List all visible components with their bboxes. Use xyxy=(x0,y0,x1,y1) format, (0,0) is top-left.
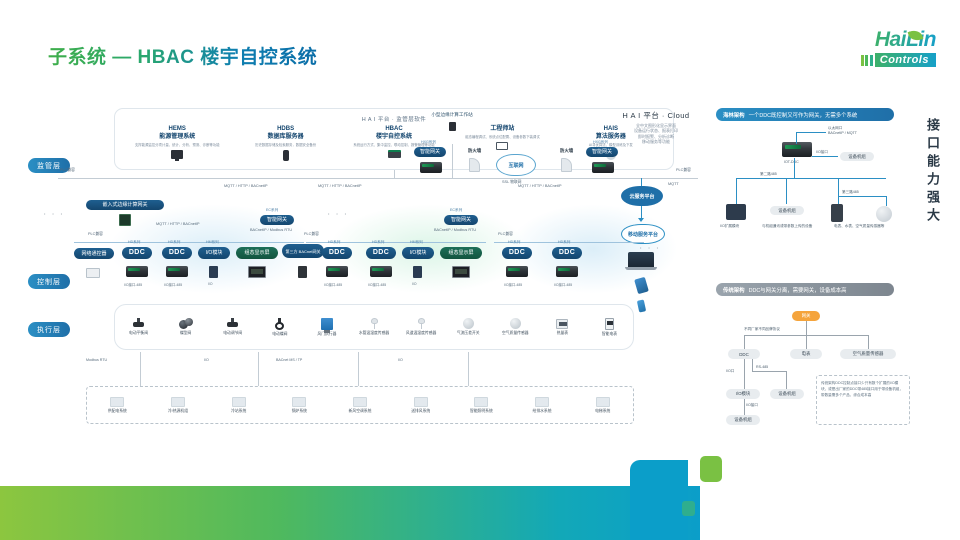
legacy-root-gateway[interactable]: 网关 xyxy=(792,311,820,321)
ec-series-2: EC系列 xyxy=(450,208,462,213)
butterfly-valve-icon xyxy=(274,318,285,330)
legacy-ddc-h xyxy=(752,371,786,372)
legacy-branch-2 xyxy=(868,335,869,349)
ddc4-sub: I/O接口-485 xyxy=(368,282,386,287)
firewall-label-2: 防火墙 xyxy=(560,148,573,154)
heat-meter-icon xyxy=(556,319,568,329)
iot-ddc-label: IOT-DDC xyxy=(784,160,799,164)
system-item-0[interactable]: 供配电系统 xyxy=(87,397,148,414)
hdbs-desc: 历史数据存储及检索服务，数据安全备份 xyxy=(231,143,339,147)
exec-item-10[interactable]: 智能电表 xyxy=(586,318,633,337)
system-item-8[interactable]: 电梯系统 xyxy=(572,397,633,414)
bus2-label: 第三路485 xyxy=(842,190,859,195)
modern-bus-drop xyxy=(794,158,795,178)
architecture-diagram: 监管层 控制层 执行层 H A I 平台 · 监管层软件 HEMS 能源管理系统… xyxy=(28,96,708,446)
system-label-6: 智能照明系统 xyxy=(451,409,512,414)
proto-mqtt-cloud: MQTT xyxy=(668,182,679,186)
legacy-meter[interactable]: 电表 xyxy=(790,349,822,359)
modern-arch-text: 一个DDC既控制又可作为网关，无需多个系统 xyxy=(749,111,858,119)
backbone-bus xyxy=(58,178,698,179)
system-label-7: 给排水系统 xyxy=(512,409,573,414)
net-controller-icon xyxy=(86,268,100,278)
internet-cloud-icon: 互联网 xyxy=(496,154,536,176)
exec-item-8[interactable]: 空气质量传感器 xyxy=(492,318,539,336)
ctrl-ddc-3[interactable]: DDC xyxy=(322,247,352,259)
logo-subtitle: Controls xyxy=(875,53,936,67)
ellipsis-mid: • • • xyxy=(328,212,349,216)
ddc4-series: HD系列 xyxy=(372,240,384,245)
modern-branch-3b xyxy=(838,196,886,197)
ddc3-series: HD系列 xyxy=(328,240,340,245)
pipe-sensor-icon xyxy=(369,318,380,329)
proto-plc-1: PLC兼容 xyxy=(88,232,103,237)
exec-item-6[interactable]: 风道温湿度传感器 xyxy=(398,318,445,336)
legacy-note-text: 传统架构DDC控制点接口少只有数个扩展的I/O模块，或是出厂家的DDC带485接… xyxy=(821,381,903,397)
control-valve-icon xyxy=(226,318,239,329)
lbl-io-2: I/O xyxy=(398,358,403,362)
exec-item-3[interactable]: 电动蝶阀 xyxy=(256,318,303,337)
hems-code: HEMS xyxy=(123,125,231,133)
ddc-device-1 xyxy=(126,266,148,277)
pressure-switch-icon xyxy=(463,318,474,329)
control-bus-1 xyxy=(74,242,304,243)
embedded-edge-gateway[interactable]: 嵌入式边缘计算网关 xyxy=(86,200,164,210)
cloud-platform-icon: 云服务平台 xyxy=(621,186,663,206)
supervision-item-hdbs[interactable]: HDBS 数据库服务器 历史数据存储及检索服务，数据安全备份 xyxy=(231,125,339,161)
legacy-ddc-drop xyxy=(744,359,745,389)
supervision-item-hems[interactable]: HEMS 能源管理系统 支撑能源监控分项计量、统计、分析、预测、诊断等功能 xyxy=(123,125,231,161)
modern-bus xyxy=(736,178,886,179)
modern-branch-3d xyxy=(886,196,887,206)
footer-square-teal xyxy=(682,501,695,516)
hems-name: 能源管理系统 xyxy=(123,133,231,141)
laptop-icon xyxy=(628,252,654,267)
footer-accent xyxy=(630,460,688,540)
ddc5-series: HD系列 xyxy=(508,240,520,245)
boiler-icon xyxy=(292,397,306,407)
supervision-caption: H A I 平台 · 监管层软件 xyxy=(115,115,673,123)
exec-item-4[interactable]: 风门执行器 xyxy=(303,318,350,337)
eth-link xyxy=(796,132,797,144)
legacy-link-io2: I/O接口 xyxy=(746,403,758,408)
bacnet-gw-icon xyxy=(298,266,307,278)
ddc3-sub: I/O接口-485 xyxy=(324,282,342,287)
ddc-device-3 xyxy=(326,266,348,277)
ddc-device-6 xyxy=(556,266,578,277)
cooling-icon xyxy=(232,397,246,407)
modern-architecture-panel: 海林架构 一个DDC既控制又可作为网关，无需多个系统 IOT-DDC 以太网口 … xyxy=(716,108,906,268)
ball-valve-icon xyxy=(179,318,193,329)
modern-arch-tag: 海林架构 xyxy=(723,111,745,119)
exec-label-5: 水管温湿度传感器 xyxy=(350,331,397,336)
damper-actuator-icon xyxy=(321,318,333,330)
proto-3: MQTT / HTTP / BACnetIP xyxy=(518,184,562,188)
hems-desc: 支撑能源监控分项计量、统计、分析、预测、诊断等功能 xyxy=(123,143,231,147)
legacy-root-note: 不同厂家不同品牌协议 xyxy=(744,327,780,332)
chiller-icon xyxy=(171,397,185,407)
ddc2-sub: I/O接口-485 xyxy=(164,282,182,287)
supervision-panel: H A I 平台 · 监管层软件 HEMS 能源管理系统 支撑能源监控分项计量、… xyxy=(114,108,674,170)
smart-gateway-left[interactable]: 智能网关 xyxy=(414,147,446,157)
hdbs-name: 数据库服务器 xyxy=(231,133,339,141)
modern-node-0[interactable]: 设备机组 xyxy=(840,152,874,161)
legacy-arch-text: DDC与网关分离，需要网关，设备成本高 xyxy=(749,286,847,294)
hmi-icon-2 xyxy=(452,266,470,278)
ctrl-io-1[interactable]: I/O模块 xyxy=(198,247,230,259)
system-label-2: 冷站系统 xyxy=(208,409,269,414)
modern-arch-header: 海林架构 一个DDC既控制又可作为网关，无需多个系统 xyxy=(716,108,894,121)
gateway-device-left xyxy=(420,162,442,173)
ctrl-ddc-2[interactable]: DDC xyxy=(162,247,192,259)
ddc6-series: HD系列 xyxy=(558,240,570,245)
legacy-root-drop xyxy=(806,321,807,335)
legacy-ddc[interactable]: DDC xyxy=(728,349,760,359)
gw-series-left: HXG系列 xyxy=(421,140,436,145)
bacnet-gw-label: 第三方 BACnet网关 xyxy=(286,249,321,254)
legacy-ddc-drop2 xyxy=(752,359,753,371)
legacy-note: 传统架构DDC控制点接口少只有数个扩展的I/O模块，或是出厂家的DDC带485接… xyxy=(816,375,910,425)
hmi-icon-1 xyxy=(248,266,266,278)
modern-node-1[interactable]: 设备机组 xyxy=(770,206,804,215)
modern-caption-3: 电表、水表、空气质量传感器等 xyxy=(834,224,884,229)
edge-gateway-icon xyxy=(119,214,131,226)
system-item-7[interactable]: 给排水系统 xyxy=(512,397,573,414)
smart-gateway-right[interactable]: 智能网关 xyxy=(586,147,618,157)
footer-bar xyxy=(0,486,700,540)
io-module-icon-2 xyxy=(413,266,422,278)
exec-label-6: 风道温湿度传感器 xyxy=(398,331,445,336)
proto-bacnet-modbus-1: BACnetIP / Modbus RTU xyxy=(250,228,292,232)
proto-1: MQTT / HTTP / BACnetIP xyxy=(224,184,268,188)
air-quality-device xyxy=(876,206,892,222)
ddc6-sub: I/O接口-485 xyxy=(554,282,572,287)
exec-item-5[interactable]: 水管温湿度传感器 xyxy=(350,318,397,336)
legacy-link-io: I/O口 xyxy=(726,369,734,374)
legacy-air-sensor[interactable]: 空气质量传感器 xyxy=(840,349,896,359)
exec-drop-3 xyxy=(358,352,359,386)
right-vertical-headline: 接口能力强大 xyxy=(923,118,942,226)
mobile-platform-label: 移动服务平台 xyxy=(628,231,658,238)
exec-drop-4 xyxy=(468,352,469,386)
controller-icon xyxy=(388,150,401,158)
io-expansion-device xyxy=(726,204,746,220)
io-port-label: I/O接口 xyxy=(816,150,828,155)
ctrl-gateway-3[interactable]: 智能网关 xyxy=(444,215,478,225)
legacy-io-module[interactable]: I/O模块 xyxy=(726,389,760,399)
edge-workstation-icon xyxy=(449,122,456,131)
iot-ddc-device xyxy=(782,142,812,157)
brand-logo: HaiLin Controls xyxy=(824,30,936,74)
power-icon xyxy=(110,397,124,407)
legacy-device-unit-2[interactable]: 设备机组 xyxy=(726,415,760,425)
firewall-label-1: 防火墙 xyxy=(468,148,481,154)
drop-line-2 xyxy=(452,144,453,178)
globe-valve-icon xyxy=(132,318,145,329)
execution-panel: 电动平衡阀 蝶型阀 电动调节阀 电动蝶阀 风门执行器 水管温湿度传感器 风道温湿… xyxy=(114,304,634,350)
proto-4: MQTT / HTTP / BACnetIP xyxy=(156,222,200,226)
proto-2: MQTT / HTTP / BACnetIP xyxy=(318,184,362,188)
modern-branch-3 xyxy=(838,178,839,196)
exec-item-9[interactable]: 热量表 xyxy=(539,319,586,336)
exec-label-1: 蝶型阀 xyxy=(162,331,209,336)
ctrl-bacnet-gateway[interactable]: 第三方 BACnet网关 xyxy=(282,244,324,258)
exec-label-0: 电动平衡阀 xyxy=(115,331,162,336)
proto-plc-left: PLC兼容 xyxy=(60,168,75,173)
fan-icon xyxy=(414,397,428,407)
system-label-4: 新风空调系统 xyxy=(330,409,391,414)
engineer-desc: 组态编程调试、系统点位配置、设备参数下装调试 xyxy=(448,135,556,139)
system-item-1[interactable]: 冷/热源机组 xyxy=(148,397,209,414)
duct-sensor-icon xyxy=(416,318,427,329)
arrow-down-icon xyxy=(638,218,644,222)
exec-label-3: 电动蝶阀 xyxy=(256,332,303,337)
legacy-branch-1 xyxy=(806,335,807,349)
exec-item-2[interactable]: 电动调节阀 xyxy=(209,318,256,336)
system-item-4[interactable]: 新风空调系统 xyxy=(330,397,391,414)
exec-item-0[interactable]: 电动平衡阀 xyxy=(115,318,162,336)
exec-label-7: 气流压差开关 xyxy=(445,331,492,336)
io-expansion-caption: I/O扩展模块 xyxy=(720,224,739,229)
modern-branch-1 xyxy=(736,178,737,204)
meter-device xyxy=(831,204,843,222)
footer-square-green xyxy=(700,456,722,482)
ddc5-sub: I/O接口-485 xyxy=(504,282,522,287)
ddc-device-2 xyxy=(166,266,188,277)
system-label-0: 供配电系统 xyxy=(87,409,148,414)
eth-protocol-label: 以太网口 BACnetIP / MQTT xyxy=(828,126,857,136)
system-label-8: 电梯系统 xyxy=(572,409,633,414)
water-icon xyxy=(535,397,549,407)
ctrl-ddc-4[interactable]: DDC xyxy=(366,247,396,259)
legacy-ddc-h2 xyxy=(786,371,787,389)
proto-plc-2: PLC兼容 xyxy=(304,232,319,237)
system-label-5: 送排风系统 xyxy=(390,409,451,414)
page-title: 子系统 — HBAC 楼宇自控系统 xyxy=(48,42,317,69)
ddc-device-5 xyxy=(506,266,528,277)
legacy-arch-header: 传统架构 DDC与网关分离，需要网关，设备成本高 xyxy=(716,283,894,296)
edge-workstation-label: 小型边缘计算工作站 xyxy=(422,112,482,118)
air-quality-icon xyxy=(510,318,521,329)
proto-plc-right: PLC兼容 xyxy=(676,168,691,173)
legacy-arch-tag: 传统架构 xyxy=(723,286,745,294)
gateway-device-right xyxy=(592,162,614,173)
lbl-bacnet-mstp: BACnet MS / TP xyxy=(276,358,302,362)
legacy-io-drop xyxy=(744,399,745,415)
exec-label-10: 智能电表 xyxy=(586,332,633,337)
ellipsis-left: • • • xyxy=(44,212,65,216)
exec-label-8: 空气质量传感器 xyxy=(492,331,539,336)
legacy-architecture-panel: 传统架构 DDC与网关分离，需要网关，设备成本高 网关 不同厂家不同品牌协议 D… xyxy=(716,283,916,433)
io2-sub: I/O xyxy=(412,282,417,286)
ddc-device-4 xyxy=(370,266,392,277)
gw-series-right: HXG系列 xyxy=(593,140,608,145)
hai-cloud-title: H A I 平台 · Cloud xyxy=(606,110,706,121)
io2-series: HM系列 xyxy=(410,240,423,245)
ahu-icon xyxy=(353,397,367,407)
hdbs-code: HDBS xyxy=(231,125,339,133)
exec-item-1[interactable]: 蝶型阀 xyxy=(162,318,209,336)
systems-row: 供配电系统 冷/热源机组 冷站系统 锅炉系统 新风空调系统 送排风系统 智能照明… xyxy=(86,386,634,424)
io1-series: HM系列 xyxy=(206,240,219,245)
elevator-icon xyxy=(596,397,610,407)
lbl-modbus-rtu: Modbus RTU xyxy=(86,358,107,362)
system-item-5[interactable]: 送排风系统 xyxy=(390,397,451,414)
ddc2-series: HD系列 xyxy=(168,240,180,245)
ddc1-sub: I/O接口-485 xyxy=(124,282,142,287)
mobile-platform-icon: 移动服务平台 xyxy=(621,224,665,244)
ctrl-gateway-2[interactable]: 智能网关 xyxy=(260,215,294,225)
lighting-icon xyxy=(474,397,488,407)
ctrl-ddc-5[interactable]: DDC xyxy=(502,247,532,259)
workstation-icon xyxy=(496,142,508,150)
system-item-6[interactable]: 智能照明系统 xyxy=(451,397,512,414)
layer-badge-execution: 执行层 xyxy=(28,322,70,337)
layer-badge-control: 控制层 xyxy=(28,274,70,289)
drop-line-1 xyxy=(394,170,395,178)
legacy-branch-0 xyxy=(744,335,745,349)
internet-label: 互联网 xyxy=(508,162,523,169)
ctrl-hmi-2[interactable]: 组态显示屏 xyxy=(440,247,482,259)
io1-sub: I/O xyxy=(208,282,213,286)
edge-workstation[interactable]: 小型边缘计算工作站 xyxy=(422,112,482,131)
modern-branch-2 xyxy=(786,178,787,204)
exec-label-2: 电动调节阀 xyxy=(209,331,256,336)
io-link xyxy=(812,156,838,157)
exec-drop-2 xyxy=(258,352,259,386)
logo-bars-icon xyxy=(861,55,873,66)
ctrl-ddc-6[interactable]: DDC xyxy=(552,247,582,259)
phone-icon xyxy=(637,299,646,312)
system-label-1: 冷/热源机组 xyxy=(148,409,209,414)
ctrl-net-controller[interactable]: 网络通控器 xyxy=(74,248,114,259)
eth-link-h xyxy=(796,132,826,133)
legacy-link-485: RS-485 xyxy=(756,365,768,369)
hai-cloud-block: H A I 平台 · Cloud 全中文图形化显示界面 设备运行状态、报表打印 … xyxy=(606,110,706,145)
ctrl-io-2[interactable]: I/O模块 xyxy=(402,247,434,259)
energy-meter-icon xyxy=(605,318,614,330)
ctrl-hmi-1[interactable]: 组态显示屏 xyxy=(236,247,278,259)
ec-series-1: EC系列 xyxy=(266,208,278,213)
cloud-platform-label: 云服务平台 xyxy=(629,193,654,200)
exec-label-9: 热量表 xyxy=(539,331,586,336)
monitor-icon xyxy=(171,150,183,159)
hai-cloud-desc: 全中文图形化显示界面 设备运行状态、报表打印 即时报警、分析诊断 移动服务等功能 xyxy=(606,123,706,145)
exec-drop-1 xyxy=(140,352,141,386)
bus1-label: 第二路485 xyxy=(760,172,777,177)
ellipsis-right: • • • xyxy=(640,246,661,250)
legacy-device-unit[interactable]: 设备机组 xyxy=(770,389,804,399)
ddc1-series: HD系列 xyxy=(128,240,140,245)
exec-item-7[interactable]: 气流压差开关 xyxy=(445,318,492,336)
proto-bacnet-modbus-2: BACnetIP / Modbus RTU xyxy=(434,228,476,232)
server-icon xyxy=(283,150,289,161)
lbl-io: I/O xyxy=(204,358,209,362)
system-label-3: 锅炉系统 xyxy=(269,409,330,414)
proto-plc-3: PLC兼容 xyxy=(498,232,513,237)
modern-caption-2: 与机组通讯或带参数上传的设备 xyxy=(762,224,812,229)
system-item-2[interactable]: 冷站系统 xyxy=(208,397,269,414)
io-module-icon-1 xyxy=(209,266,218,278)
ctrl-ddc-1[interactable]: DDC xyxy=(122,247,152,259)
system-item-3[interactable]: 锅炉系统 xyxy=(269,397,330,414)
